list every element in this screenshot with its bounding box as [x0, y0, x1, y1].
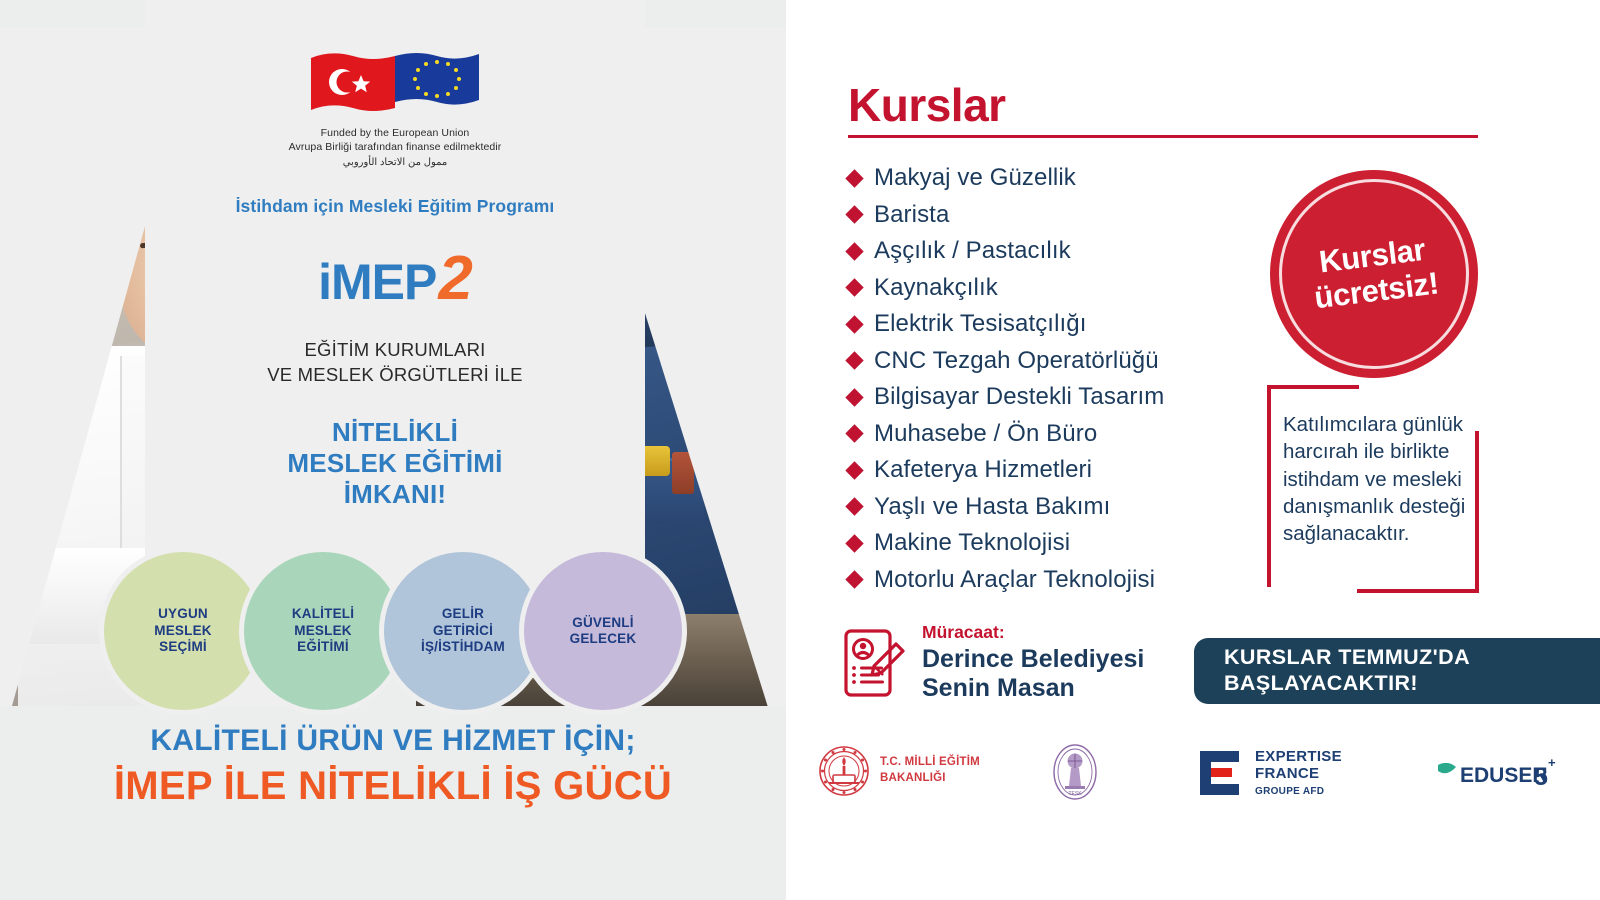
diamond-bullet-icon [845, 169, 863, 187]
funding-line-ar: ممول من الاتحاد الأوروبي [289, 156, 502, 170]
poster-footer-slogan: KALİTELİ ÜRÜN VE HİZMET İÇİN; İMEP İLE N… [0, 724, 786, 809]
diamond-bullet-icon [845, 498, 863, 516]
circle-4-line-2: GELECEK [570, 631, 637, 646]
circle-2-line-2: MESLEK [294, 623, 351, 638]
edu-line-2: VE MESLEK ÖRGÜTLERİ İLE [267, 363, 522, 388]
application-name-line-1: Derince Belediyesi [922, 645, 1144, 674]
course-list-item: Barista [848, 197, 1288, 234]
diamond-bullet-icon [845, 206, 863, 224]
diamond-bullet-icon [845, 279, 863, 297]
imep-logo: iMEP 2 [318, 243, 472, 314]
program-tagline: İstihdam için Mesleki Eğitim Programı [236, 196, 555, 217]
headline-line-2: MESLEK EĞİTİMİ [287, 448, 502, 479]
diamond-bullet-icon [845, 534, 863, 552]
meb-line-2: BAKANLIĞI [880, 772, 946, 784]
circle-1-line-3: SEÇİMİ [159, 639, 207, 654]
banner-line-2: BAŞLAYACAKTIR! [1224, 671, 1470, 697]
circle-guvenli-gelecek: GÜVENLİ GELECEK [524, 552, 682, 710]
start-date-banner: KURSLAR TEMMUZ'DA BAŞLAYACAKTIR! [1194, 638, 1600, 704]
circle-1-line-2: MESLEK [154, 623, 211, 638]
courses-list: Makyaj ve Güzellik Barista Aşçılık / Pas… [848, 160, 1288, 598]
course-label: Makyaj ve Güzellik [874, 164, 1076, 192]
circle-gelir-getirici-is: GELİR GETİRİCİ İŞ/İSTİHDAM [384, 552, 542, 710]
circle-kaliteli-meslek-egitimi: KALİTELİ MESLEK EĞİTİMİ [244, 552, 402, 710]
poster-page: Funded by the European Union Avrupa Birl… [0, 0, 1600, 900]
courses-right-panel: Kurslar Makyaj ve Güzellik Barista Aşçıl… [786, 0, 1600, 900]
allowance-info-box: Katılımcılara günlük harcırah ile birlik… [1267, 385, 1479, 593]
allowance-info-text: Katılımcılara günlük harcırah ile birlik… [1283, 411, 1467, 547]
course-label: Kafeterya Hizmetleri [874, 456, 1092, 484]
course-list-item: Yaşlı ve Hasta Bakımı [848, 489, 1288, 526]
imep-logo-word: iMEP [318, 253, 436, 311]
value-circles: UYGUN MESLEK SEÇİMİ KALİTELİ MESLEK EĞİT… [0, 552, 786, 712]
diamond-bullet-icon [845, 242, 863, 260]
partner-logos: T.C. MİLLİ EĞİTİM BAKANLIĞI TESK [786, 735, 1600, 825]
infobox-border-gap-right [1473, 385, 1479, 431]
application-name-line-2: Senin Masan [922, 674, 1144, 703]
course-list-item: Elektrik Tesisatçılığı [848, 306, 1288, 343]
course-list-item: Aşçılık / Pastacılık [848, 233, 1288, 270]
funding-credit: Funded by the European Union Avrupa Birl… [289, 126, 502, 170]
circle-4-line-1: GÜVENLİ [572, 615, 633, 630]
poster-headline: NİTELİKLİ MESLEK EĞİTİMİ İMKANI! [287, 417, 502, 509]
diamond-bullet-icon [845, 425, 863, 443]
funding-line-en: Funded by the European Union [289, 126, 502, 140]
headline-line-1: NİTELİKLİ [287, 417, 502, 448]
course-label: Yaşlı ve Hasta Bakımı [874, 493, 1110, 521]
course-list-item: Makine Teknolojisi [848, 525, 1288, 562]
banner-line-1: KURSLAR TEMMUZ'DA [1224, 645, 1470, 671]
infobox-border-gap-top [1359, 385, 1479, 391]
ef-line-2: FRANCE [1255, 765, 1319, 782]
circle-3-line-2: GETİRİCİ [433, 623, 493, 638]
imep-logo-number: 2 [438, 243, 471, 314]
course-label: Elektrik Tesisatçılığı [874, 310, 1087, 338]
application-form-icon [844, 628, 906, 698]
funding-line-tr: Avrupa Birliği tarafından finanse edilme… [289, 140, 502, 154]
circle-3-line-1: GELİR [442, 606, 484, 621]
headline-line-3: İMKANI! [287, 479, 502, 510]
poster-left-panel: Funded by the European Union Avrupa Birl… [0, 0, 786, 900]
circle-2-line-1: KALİTELİ [292, 606, 354, 621]
expertise-france-mark-icon [1198, 749, 1244, 797]
course-label: CNC Tezgah Operatörlüğü [874, 347, 1159, 375]
course-list-item: Muhasebe / Ön Büro [848, 416, 1288, 453]
course-list-item: CNC Tezgah Operatörlüğü [848, 343, 1288, 380]
ef-line-1: EXPERTISE [1255, 748, 1342, 765]
footer-slogan-line-2: İMEP İLE NİTELİKLİ İŞ GÜCÜ [0, 764, 786, 809]
diamond-bullet-icon [845, 388, 863, 406]
circle-3-line-3: İŞ/İSTİHDAM [421, 639, 505, 654]
edu-line-1: EĞİTİM KURUMLARI [267, 338, 522, 363]
course-label: Muhasebe / Ön Büro [874, 420, 1097, 448]
course-label: Kaynakçılık [874, 274, 998, 302]
infobox-border-left [1267, 385, 1271, 593]
diamond-bullet-icon [845, 352, 863, 370]
logo-tesk: TESK [1048, 743, 1102, 801]
education-institutions-text: EĞİTİM KURUMLARI VE MESLEK ÖRGÜTLERİ İLE [267, 338, 522, 388]
diamond-bullet-icon [845, 461, 863, 479]
course-list-item: Makyaj ve Güzellik [848, 160, 1288, 197]
course-list-item: Motorlu Araçlar Teknolojisi [848, 562, 1288, 599]
circle-2-line-3: EĞİTİMİ [297, 639, 349, 654]
diamond-bullet-icon [845, 315, 863, 333]
logo-expertise-france: EXPERTISE FRANCE GROUPE AFD [1198, 749, 1342, 797]
eu-turkey-flags [309, 48, 481, 120]
course-list-item: Kafeterya Hizmetleri [848, 452, 1288, 489]
application-label: Müracaat: [922, 622, 1144, 643]
circle-uygun-meslek-secimi: UYGUN MESLEK SEÇİMİ [104, 552, 262, 710]
logo-eduser: EDUSER 5 + [1416, 751, 1566, 795]
footer-slogan-line-1: KALİTELİ ÜRÜN VE HİZMET İÇİN; [0, 724, 786, 758]
course-label: Bilgisayar Destekli Tasarım [874, 383, 1164, 411]
tesk-label: TESK [1068, 791, 1082, 797]
course-label: Barista [874, 201, 949, 229]
logo-milli-egitim-bakanligi: T.C. MİLLİ EĞİTİM BAKANLIĞI [818, 745, 980, 797]
eduser-number: 5 [1534, 763, 1548, 791]
course-label: Makine Teknolojisi [874, 529, 1070, 557]
courses-heading: Kurslar [848, 78, 1006, 132]
application-block: Müracaat: Derince Belediyesi Senin Masan [844, 622, 1144, 703]
circle-1-line-1: UYGUN [158, 606, 208, 621]
infobox-border-gap-bottom [1267, 587, 1357, 593]
course-list-item: Kaynakçılık [848, 270, 1288, 307]
courses-heading-underline [848, 135, 1478, 138]
meb-seal-icon [818, 745, 870, 797]
meb-line-1: T.C. MİLLİ EĞİTİM [880, 756, 980, 768]
course-label: Aşçılık / Pastacılık [874, 237, 1071, 265]
diamond-bullet-icon [845, 571, 863, 589]
course-label: Motorlu Araçlar Teknolojisi [874, 566, 1155, 594]
eduser-plus: + [1548, 755, 1556, 770]
course-list-item: Bilgisayar Destekli Tasarım [848, 379, 1288, 416]
ef-line-3: GROUPE AFD [1255, 786, 1342, 797]
free-courses-badge: Kurslar ücretsiz! [1270, 170, 1478, 378]
